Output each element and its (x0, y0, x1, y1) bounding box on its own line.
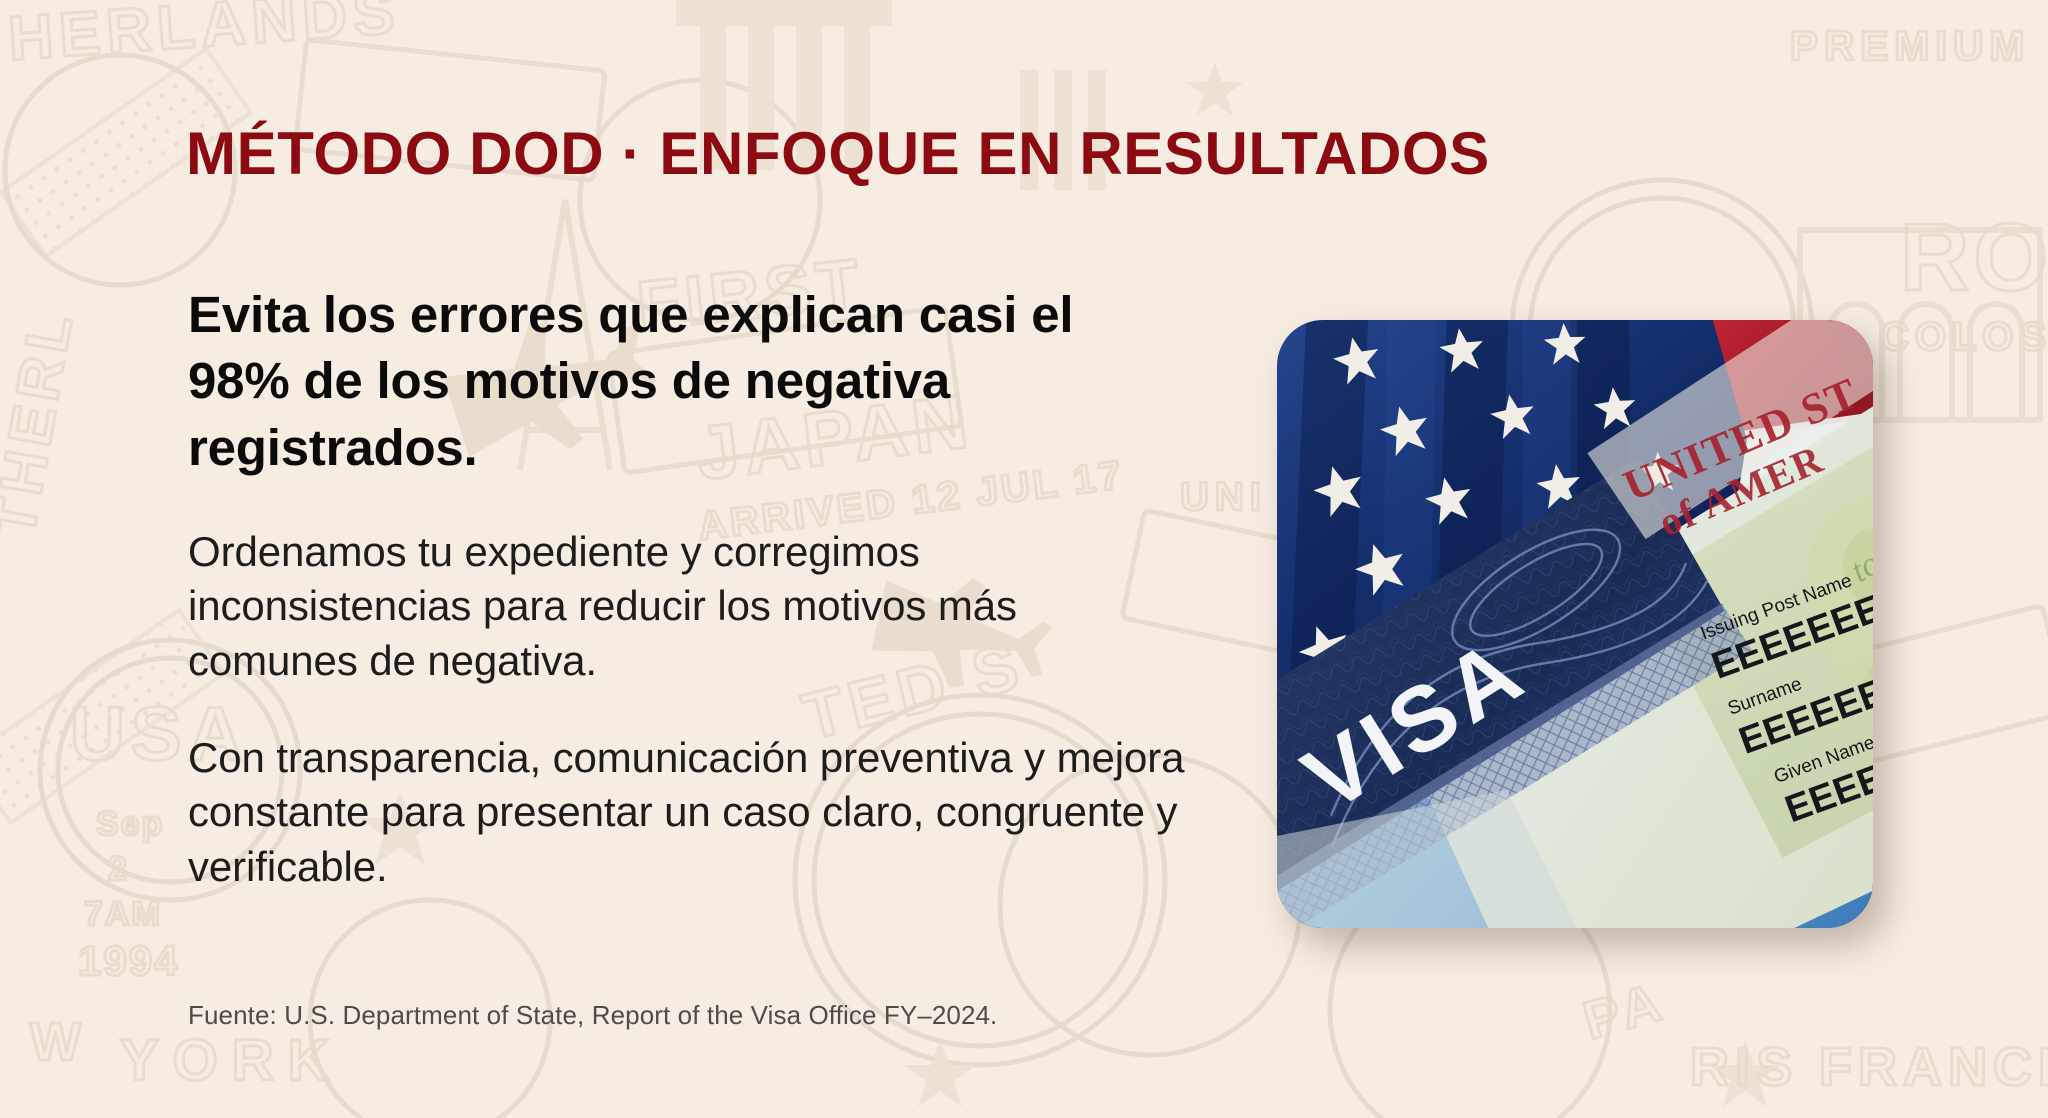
content-column: Evita los errores que explican casi el 9… (188, 282, 1203, 894)
page-title: MÉTODO DOD · ENFOQUE EN RESULTADOS (186, 124, 1490, 184)
source-note: Fuente: U.S. Department of State, Report… (188, 1000, 997, 1031)
visa-photo-artwork: VISA UNITED ST of AMER Issuing Post (1277, 320, 1873, 928)
photo-inner: VISA UNITED ST of AMER Issuing Post (1277, 320, 1873, 928)
slide-root: MÉTODO DOD · ENFOQUE EN RESULTADOS Evita… (0, 0, 2048, 1118)
body-paragraph-1: Ordenamos tu expediente y corregimos inc… (188, 525, 1198, 689)
body-paragraph-2: Con transparencia, comunicación preventi… (188, 731, 1198, 895)
us-visa-and-flag-photo: VISA UNITED ST of AMER Issuing Post (1277, 320, 1873, 928)
lead-statement: Evita los errores que explican casi el 9… (188, 282, 1188, 481)
